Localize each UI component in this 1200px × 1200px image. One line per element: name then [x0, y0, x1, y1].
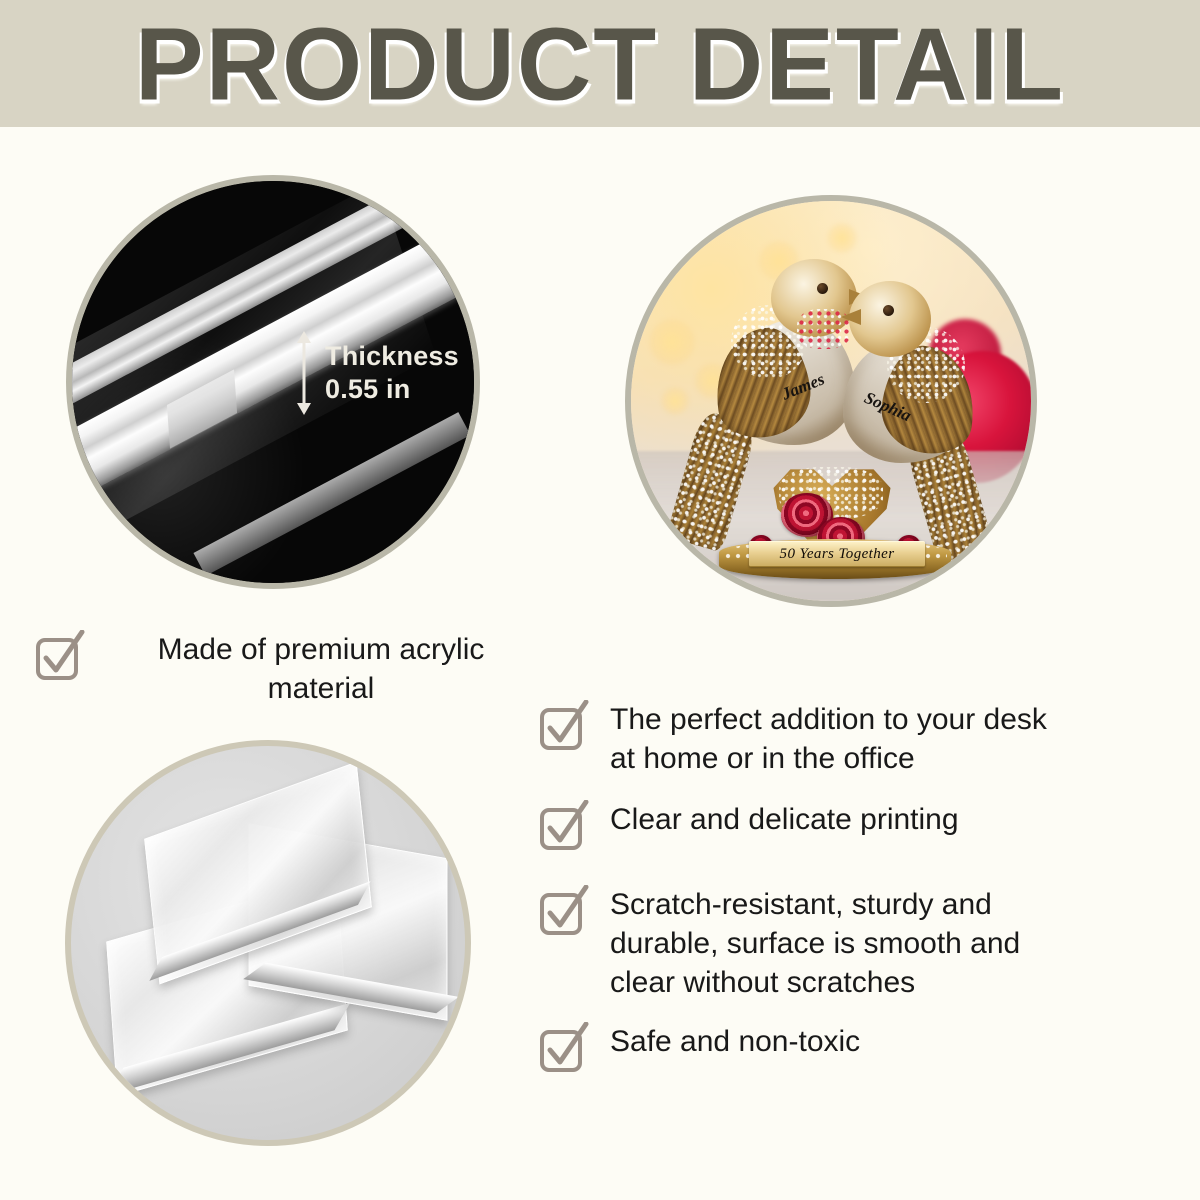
feature-label: The perfect addition to your desk at hom… [610, 700, 1047, 778]
checkbox-check-icon [538, 885, 590, 937]
checkbox-check-icon [34, 630, 86, 682]
figurine-photo-circle: James Sophia 50 Years Together [625, 195, 1037, 607]
feature-label: Safe and non-toxic [610, 1022, 860, 1061]
right-bird-eye [883, 305, 894, 316]
feature-item-safe: Safe and non-toxic [538, 1022, 1188, 1074]
bokeh-light [649, 319, 695, 365]
feature-item-desk: The perfect addition to your desk at hom… [538, 700, 1188, 778]
left-bird-eye [817, 283, 828, 294]
feature-item-acrylic: Made of premium acrylic material [34, 630, 554, 708]
checkbox-check-icon [538, 800, 590, 852]
thickness-callout: Thickness 0.55 in [294, 331, 459, 415]
plaque-text: 50 Years Together [780, 546, 895, 563]
right-bird-beak [841, 309, 861, 325]
header-banner: PRODUCT DETAIL [0, 0, 1200, 127]
feature-item-scratch: Scratch-resistant, sturdy and durable, s… [538, 885, 1188, 1002]
bokeh-light [827, 223, 857, 253]
engraved-plaque: 50 Years Together [749, 541, 925, 567]
checkbox-check-icon [538, 1022, 590, 1074]
feature-label: Made of premium acrylic material [106, 630, 536, 708]
double-arrow-vertical-icon [294, 331, 314, 415]
bokeh-light [661, 387, 689, 415]
feature-label: Clear and delicate printing [610, 800, 959, 839]
checkbox-check-icon [538, 700, 590, 752]
feature-label: Scratch-resistant, sturdy and durable, s… [610, 885, 1020, 1002]
acrylic-blanks-photo-circle [65, 740, 471, 1146]
right-bird-head [849, 281, 931, 357]
figurine-base: 50 Years Together [719, 465, 951, 585]
feature-item-print: Clear and delicate printing [538, 800, 1188, 852]
page-title: PRODUCT DETAIL [0, 12, 1200, 115]
thickness-photo-circle: Thickness 0.55 in [66, 175, 480, 589]
thickness-label: Thickness 0.55 in [325, 340, 459, 406]
